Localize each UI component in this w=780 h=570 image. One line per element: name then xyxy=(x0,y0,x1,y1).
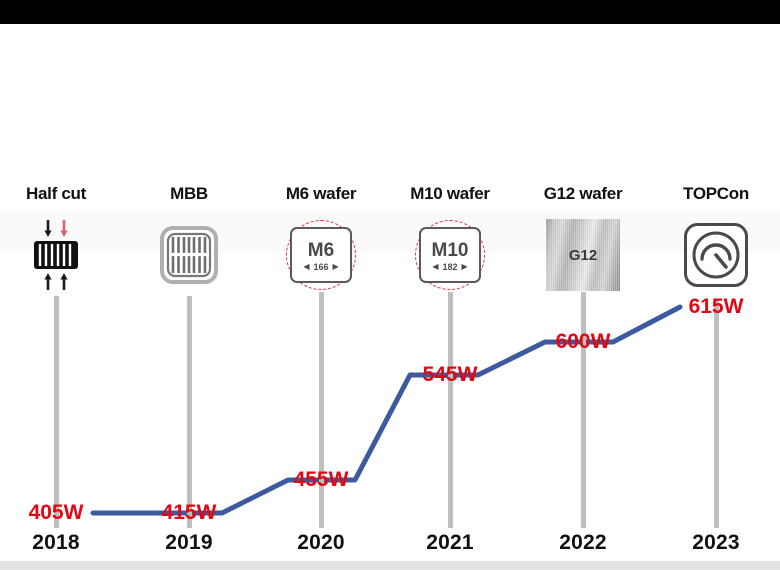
wafer-g12-icon: G12 xyxy=(546,219,620,291)
milestone-icon-2020: M6 ◀ 166 ▶ xyxy=(256,218,386,292)
milestone-column-2023: TOPCon 615W 2023 xyxy=(651,0,780,570)
milestone-pin-2021 xyxy=(448,292,453,528)
wafer-size-label: 166 xyxy=(313,263,328,272)
wafer-code-label: M10 xyxy=(432,241,469,260)
milestone-column-2021: M10 wafer M10 ◀ 182 ▶ 545W 2021 xyxy=(385,0,515,570)
milestone-title-2021: M10 wafer xyxy=(385,184,515,204)
power-label-2021: 545W xyxy=(385,363,515,387)
year-label-2023: 2023 xyxy=(651,531,780,555)
milestone-pin-2018 xyxy=(54,296,59,528)
wafer-dimension-row: ◀ 166 ▶ xyxy=(303,263,338,272)
milestone-title-2019: MBB xyxy=(124,184,254,204)
power-label-2020: 455W xyxy=(256,468,386,492)
arrow-right-icon: ▶ xyxy=(462,263,468,271)
year-label-2020: 2020 xyxy=(256,531,386,555)
wafer-dimension-row: ◀ 182 ▶ xyxy=(432,263,467,272)
power-label-2022: 600W xyxy=(518,330,648,354)
wafer-square-outline: M10 ◀ 182 ▶ xyxy=(419,227,481,283)
milestone-title-2022: G12 wafer xyxy=(518,184,648,204)
arrow-left-icon: ◀ xyxy=(303,263,309,271)
milestone-column-2022: G12 wafer G12 600W 2022 xyxy=(518,0,648,570)
arrow-right-icon: ▶ xyxy=(333,263,339,271)
milestone-icon-2021: M10 ◀ 182 ▶ xyxy=(385,218,515,292)
milestone-icon-2018 xyxy=(0,218,121,292)
milestone-pin-2020 xyxy=(319,292,324,528)
wafer-code-label: M6 xyxy=(308,241,334,260)
wafer-m10-icon: M10 ◀ 182 ▶ xyxy=(410,219,490,291)
milestone-title-2023: TOPCon xyxy=(651,184,780,204)
milestone-title-2018: Half cut xyxy=(0,184,121,204)
multi-busbar-cell-icon xyxy=(160,226,218,284)
milestone-icon-2019 xyxy=(124,218,254,292)
year-label-2018: 2018 xyxy=(0,531,121,555)
power-label-2023: 615W xyxy=(651,295,780,319)
power-label-2019: 415W xyxy=(124,501,254,525)
bottom-letterbox-strip xyxy=(0,561,780,570)
milestone-pin-2022 xyxy=(581,292,586,528)
half-cut-cell-icon xyxy=(26,218,86,292)
year-label-2021: 2021 xyxy=(385,531,515,555)
wafer-m6-icon: M6 ◀ 166 ▶ xyxy=(281,219,361,291)
milestone-pin-2019 xyxy=(187,296,192,528)
milestone-icon-2022: G12 xyxy=(518,218,648,292)
wafer-size-label: 182 xyxy=(442,263,457,272)
milestone-icon-2023 xyxy=(651,218,780,292)
milestone-column-2018: Half cut xyxy=(0,0,121,570)
milestone-pin-2023 xyxy=(714,300,719,528)
year-label-2019: 2019 xyxy=(124,531,254,555)
milestone-column-2019: MBB xyxy=(124,0,254,570)
timeline-canvas: Half cut xyxy=(0,0,780,570)
wafer-square-outline: M6 ◀ 166 ▶ xyxy=(290,227,352,283)
topcon-gauge-icon xyxy=(683,222,749,288)
wafer-code-label: G12 xyxy=(569,247,597,264)
arrow-left-icon: ◀ xyxy=(432,263,438,271)
power-label-2018: 405W xyxy=(0,501,121,525)
year-label-2022: 2022 xyxy=(518,531,648,555)
milestone-column-2020: M6 wafer M6 ◀ 166 ▶ 455W 2020 xyxy=(256,0,386,570)
milestone-title-2020: M6 wafer xyxy=(256,184,386,204)
